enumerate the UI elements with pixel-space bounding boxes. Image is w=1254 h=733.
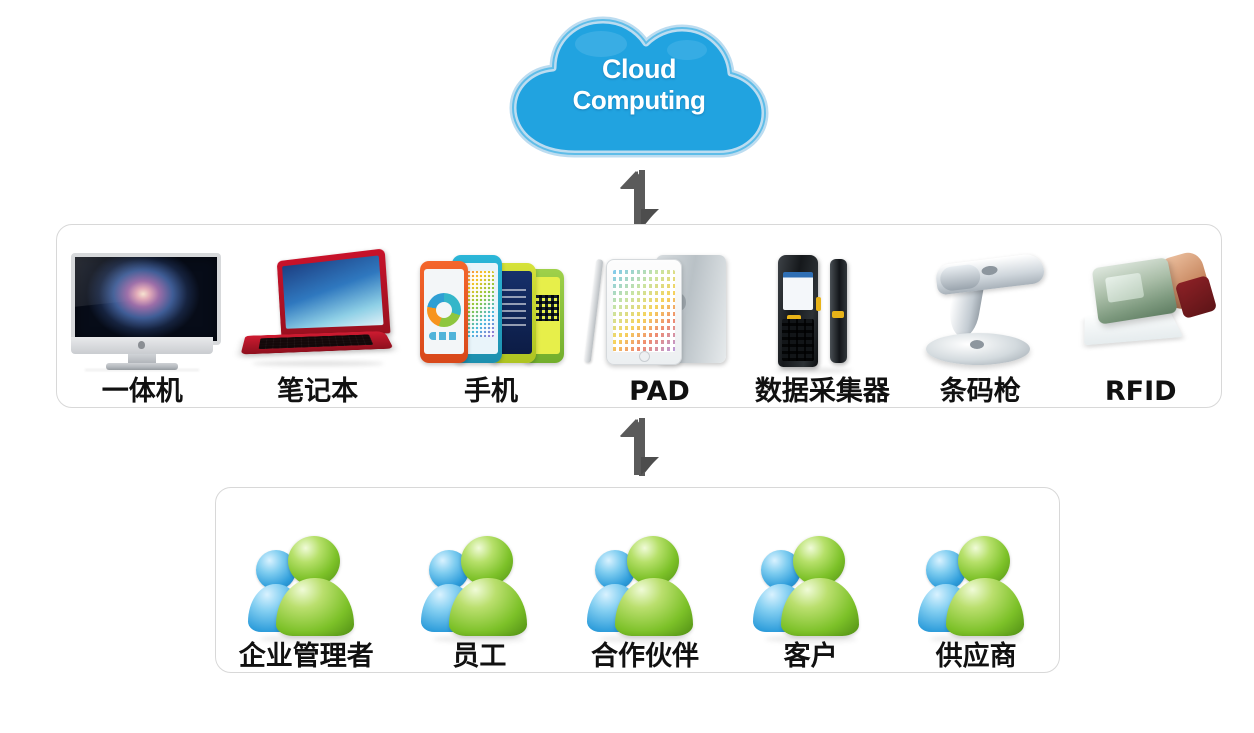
device-label-rfid: RFID — [1105, 377, 1177, 407]
role-label-partner: 合作伙伴 — [591, 642, 699, 672]
devices-panel: 一体机 笔记本 — [56, 224, 1222, 408]
roles-panel: 企业管理者 员工 合作伙伴 — [215, 487, 1060, 673]
cloud-computing-node[interactable]: Cloud Computing — [505, 14, 773, 166]
role-item-enterprise-manager[interactable]: 企业管理者 — [239, 526, 374, 672]
users-pair-icon — [246, 526, 366, 638]
arrow-devices-to-roles — [615, 418, 663, 476]
smartphone-icon — [418, 253, 564, 371]
role-label-customer: 客户 — [784, 642, 838, 672]
device-item-smartphone[interactable]: 手机 — [418, 253, 564, 407]
device-label-data-collector: 数据采集器 — [755, 377, 890, 407]
role-item-supplier[interactable]: 供应商 — [916, 526, 1036, 672]
data-collector-icon — [762, 253, 882, 371]
role-label-supplier: 供应商 — [936, 642, 1017, 672]
role-item-customer[interactable]: 客户 — [751, 526, 871, 672]
laptop-icon — [238, 253, 398, 371]
users-pair-icon — [419, 526, 539, 638]
device-label-all-in-one: 一体机 — [102, 377, 183, 407]
users-pair-icon — [751, 526, 871, 638]
role-item-partner[interactable]: 合作伙伴 — [585, 526, 705, 672]
diagram-canvas: Cloud Computing 一体机 — [0, 0, 1254, 733]
users-pair-icon — [585, 526, 705, 638]
device-item-laptop[interactable]: 笔记本 — [238, 253, 398, 407]
device-label-laptop: 笔记本 — [277, 377, 358, 407]
device-label-tablet: PAD — [629, 377, 690, 407]
all-in-one-desktop-icon — [67, 253, 217, 371]
arrow-cloud-to-devices — [615, 170, 663, 228]
bidirectional-arrow-icon — [615, 170, 663, 228]
barcode-scanner-icon — [910, 253, 1050, 371]
role-label-employee: 员工 — [452, 642, 506, 672]
device-item-tablet[interactable]: PAD — [584, 253, 734, 407]
rfid-reader-icon — [1071, 253, 1211, 371]
device-item-barcode-scanner[interactable]: 条码枪 — [910, 253, 1050, 407]
device-label-barcode-scanner: 条码枪 — [940, 377, 1021, 407]
cloud-shape-icon — [505, 14, 773, 166]
device-label-smartphone: 手机 — [464, 377, 518, 407]
device-item-rfid[interactable]: RFID — [1071, 253, 1211, 407]
tablet-icon — [584, 253, 734, 371]
bidirectional-arrow-icon — [615, 418, 663, 476]
device-item-data-collector[interactable]: 数据采集器 — [755, 253, 890, 407]
role-label-enterprise-manager: 企业管理者 — [239, 642, 374, 672]
users-pair-icon — [916, 526, 1036, 638]
role-item-employee[interactable]: 员工 — [419, 526, 539, 672]
device-item-all-in-one[interactable]: 一体机 — [67, 253, 217, 407]
